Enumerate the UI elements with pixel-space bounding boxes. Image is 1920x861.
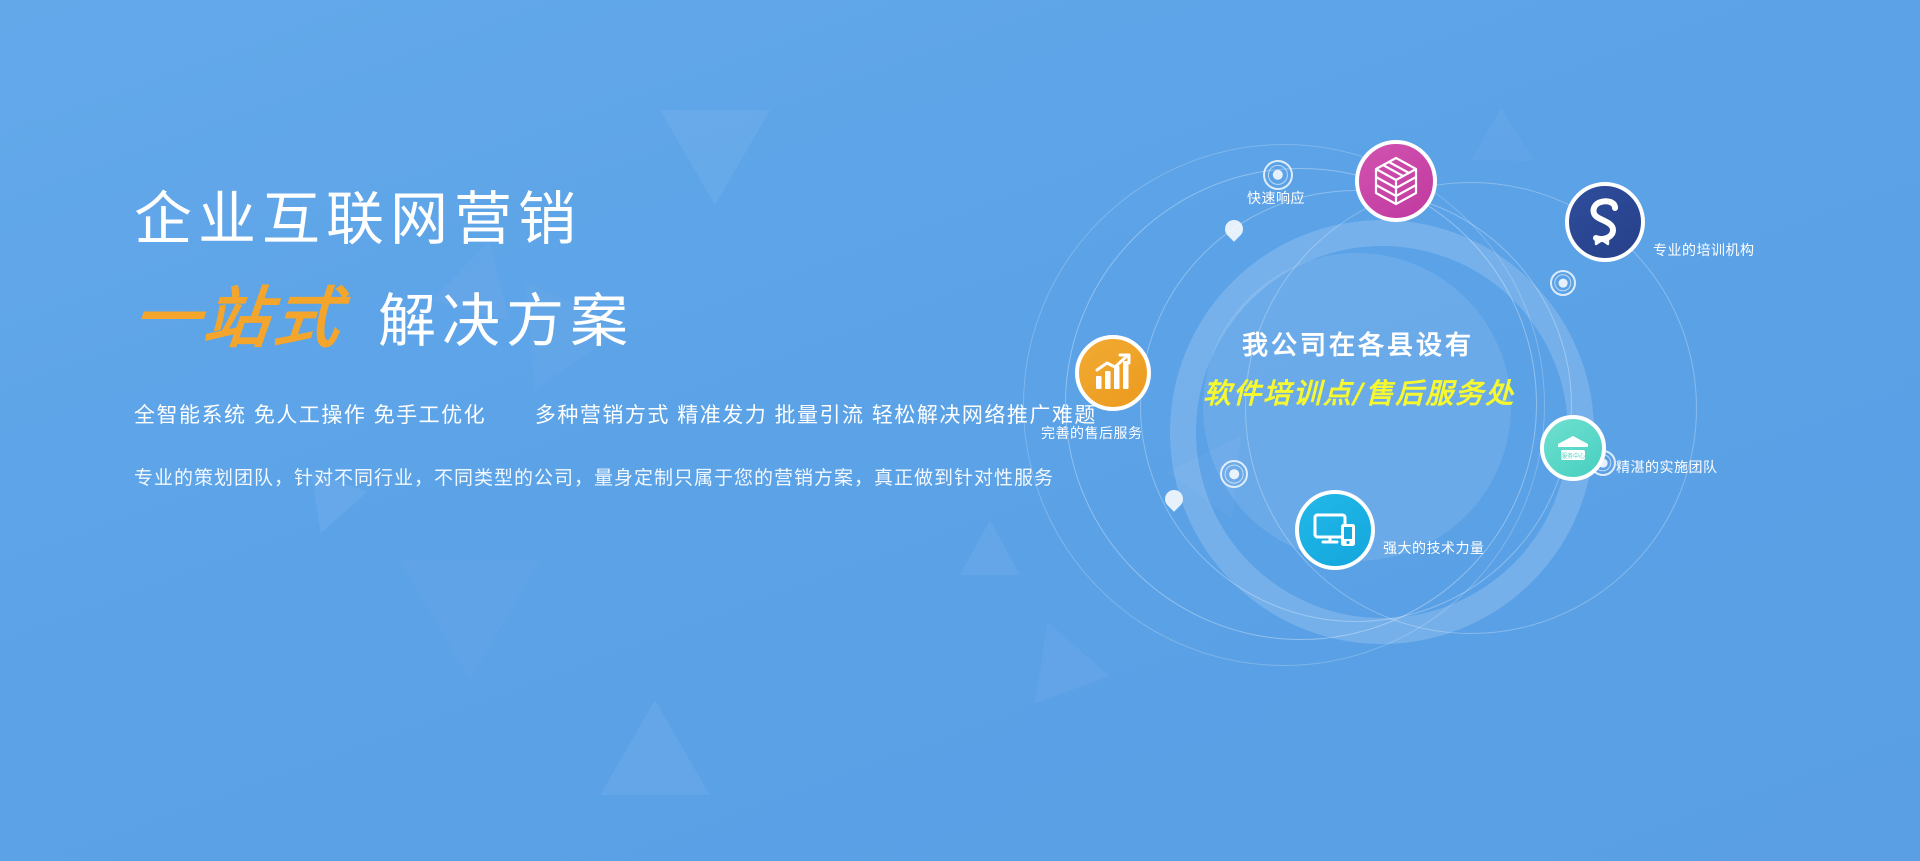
node-aftersales[interactable]: 完善的售后服务 [1075,335,1151,411]
monitor-icon [1311,508,1359,552]
node-tech[interactable]: 强大的技术力量 [1295,490,1375,570]
center-text-block: 我公司在各县设有 软件培训点/售后服务处 [1203,325,1513,412]
svg-text:服务中心: 服务中心 [1561,452,1585,460]
subtitle-line-1-part-1: 全智能系统 免人工操作 免手工优化 [134,404,486,427]
node-cube[interactable]: 快速响应 [1355,140,1437,222]
subtitle-line-2: 专业的策划团队，针对不同行业，不同类型的公司，量身定制只属于您的营销方案，真正做… [134,463,1064,490]
target-ring-icon [1220,460,1248,488]
orbit-graphic: 我公司在各县设有 软件培训点/售后服务处 [1085,140,1785,700]
ribbon-s-icon [1582,197,1628,247]
growth-chart-icon [1091,352,1135,394]
node-training-circle[interactable] [1565,182,1645,262]
cube-icon [1373,156,1419,206]
node-tech-label: 强大的技术力量 [1383,538,1485,558]
service-center-icon: 服务中心 [1552,427,1594,469]
headline-accent-text: 一站式 [131,285,348,351]
headline-rest-text: 解决方案 [378,293,634,351]
decor-triangle [400,560,540,680]
decor-triangle [960,520,1020,575]
node-tech-circle[interactable] [1295,490,1375,570]
node-training-label: 专业的培训机构 [1653,240,1755,260]
node-team[interactable]: 服务中心 精湛的实施团队 [1540,415,1606,481]
node-cube-circle[interactable] [1355,140,1437,222]
node-aftersales-label: 完善的售后服务 [1041,423,1143,443]
node-team-circle[interactable]: 服务中心 [1540,415,1606,481]
target-ring-icon [1550,270,1576,296]
copy-block: 企业互联网营销 一站式 解决方案 全智能系统 免人工操作 免手工优化 多种营销方… [134,190,1064,490]
headline-line-2: 一站式 解决方案 [134,285,1064,351]
headline-line-1: 企业互联网营销 [134,190,1064,251]
subtitle-line-1-part-2: 多种营销方式 精准发力 批量引流 轻松解决网络推广难题 [535,404,1097,427]
marketing-banner: 企业互联网营销 一站式 解决方案 全智能系统 免人工操作 免手工优化 多种营销方… [0,0,1920,861]
center-text-line-2: 软件培训点/售后服务处 [1203,372,1513,412]
subtitle-line-1: 全智能系统 免人工操作 免手工优化 多种营销方式 精准发力 批量引流 轻松解决网… [134,399,1064,429]
node-cube-label: 快速响应 [1247,188,1305,208]
target-ring-icon [1263,160,1293,190]
node-aftersales-circle[interactable] [1075,335,1151,411]
decor-triangle [600,700,710,795]
center-text-line-1: 我公司在各县设有 [1203,325,1513,362]
node-training[interactable]: 专业的培训机构 [1565,182,1645,262]
node-team-label: 精湛的实施团队 [1616,457,1718,477]
